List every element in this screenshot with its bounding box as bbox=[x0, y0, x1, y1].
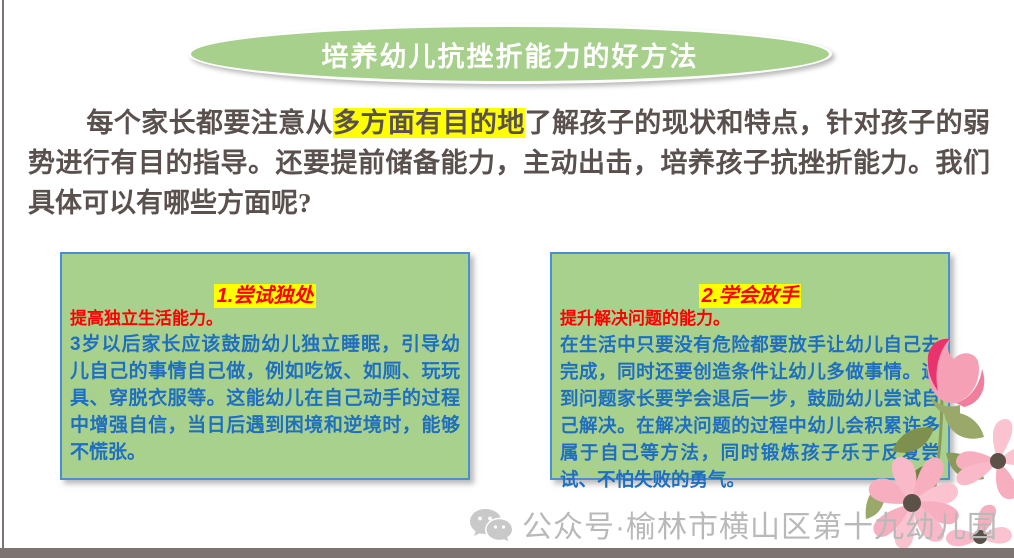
watermark: 公众号·榆林市横山区第十九幼儿园 bbox=[470, 502, 998, 546]
content-box-1-heading-text: 1.尝试独处 bbox=[214, 284, 317, 308]
content-box-1-subtitle: 提高独立生活能力。 bbox=[70, 308, 460, 330]
watermark-text: 公众号·榆林市横山区第十九幼儿园 bbox=[522, 502, 998, 546]
content-box-2-heading: 2.学会放手 bbox=[560, 286, 940, 306]
content-box-2-heading-text: 2.学会放手 bbox=[699, 284, 802, 308]
page-title: 培养幼儿抗挫折能力的好方法 bbox=[322, 35, 699, 74]
content-box-2: 2.学会放手 提升解决问题的能力。 在生活中只要没有危险都要放手让幼儿自己去完成… bbox=[550, 252, 950, 480]
content-box-2-body: 在生活中只要没有危险都要放手让幼儿自己去完成，同时还要创造条件让幼儿多做事情。遇… bbox=[560, 331, 940, 493]
title-ellipse-shape: 培养幼儿抗挫折能力的好方法 bbox=[188, 24, 832, 84]
content-box-1-body: 3岁以后家长应该鼓励幼儿独立睡眠，引导幼儿自己的事情自己做，例如吃饭、如厕、玩玩… bbox=[70, 331, 460, 466]
slide-frame-bottom-bar bbox=[0, 548, 1014, 558]
slide-canvas: 培养幼儿抗挫折能力的好方法 每个家长都要注意从多方面有目的地了解孩子的现状和特点… bbox=[0, 0, 1014, 558]
intro-highlighted-phrase: 多方面有目的地 bbox=[333, 108, 525, 138]
content-box-2-subtitle: 提升解决问题的能力。 bbox=[560, 308, 940, 330]
wechat-icon bbox=[470, 507, 512, 541]
intro-paragraph: 每个家长都要注意从多方面有目的地了解孩子的现状和特点，针对孩子的弱势进行有目的指… bbox=[28, 103, 990, 223]
title-banner: 培养幼儿抗挫折能力的好方法 bbox=[188, 24, 832, 84]
intro-text-part1: 每个家长都要注意从 bbox=[86, 108, 333, 138]
slide-frame-left-border bbox=[2, 0, 4, 548]
content-box-1-heading: 1.尝试独处 bbox=[70, 286, 460, 306]
content-box-1: 1.尝试独处 提高独立生活能力。 3岁以后家长应该鼓励幼儿独立睡眠，引导幼儿自己… bbox=[60, 252, 470, 480]
